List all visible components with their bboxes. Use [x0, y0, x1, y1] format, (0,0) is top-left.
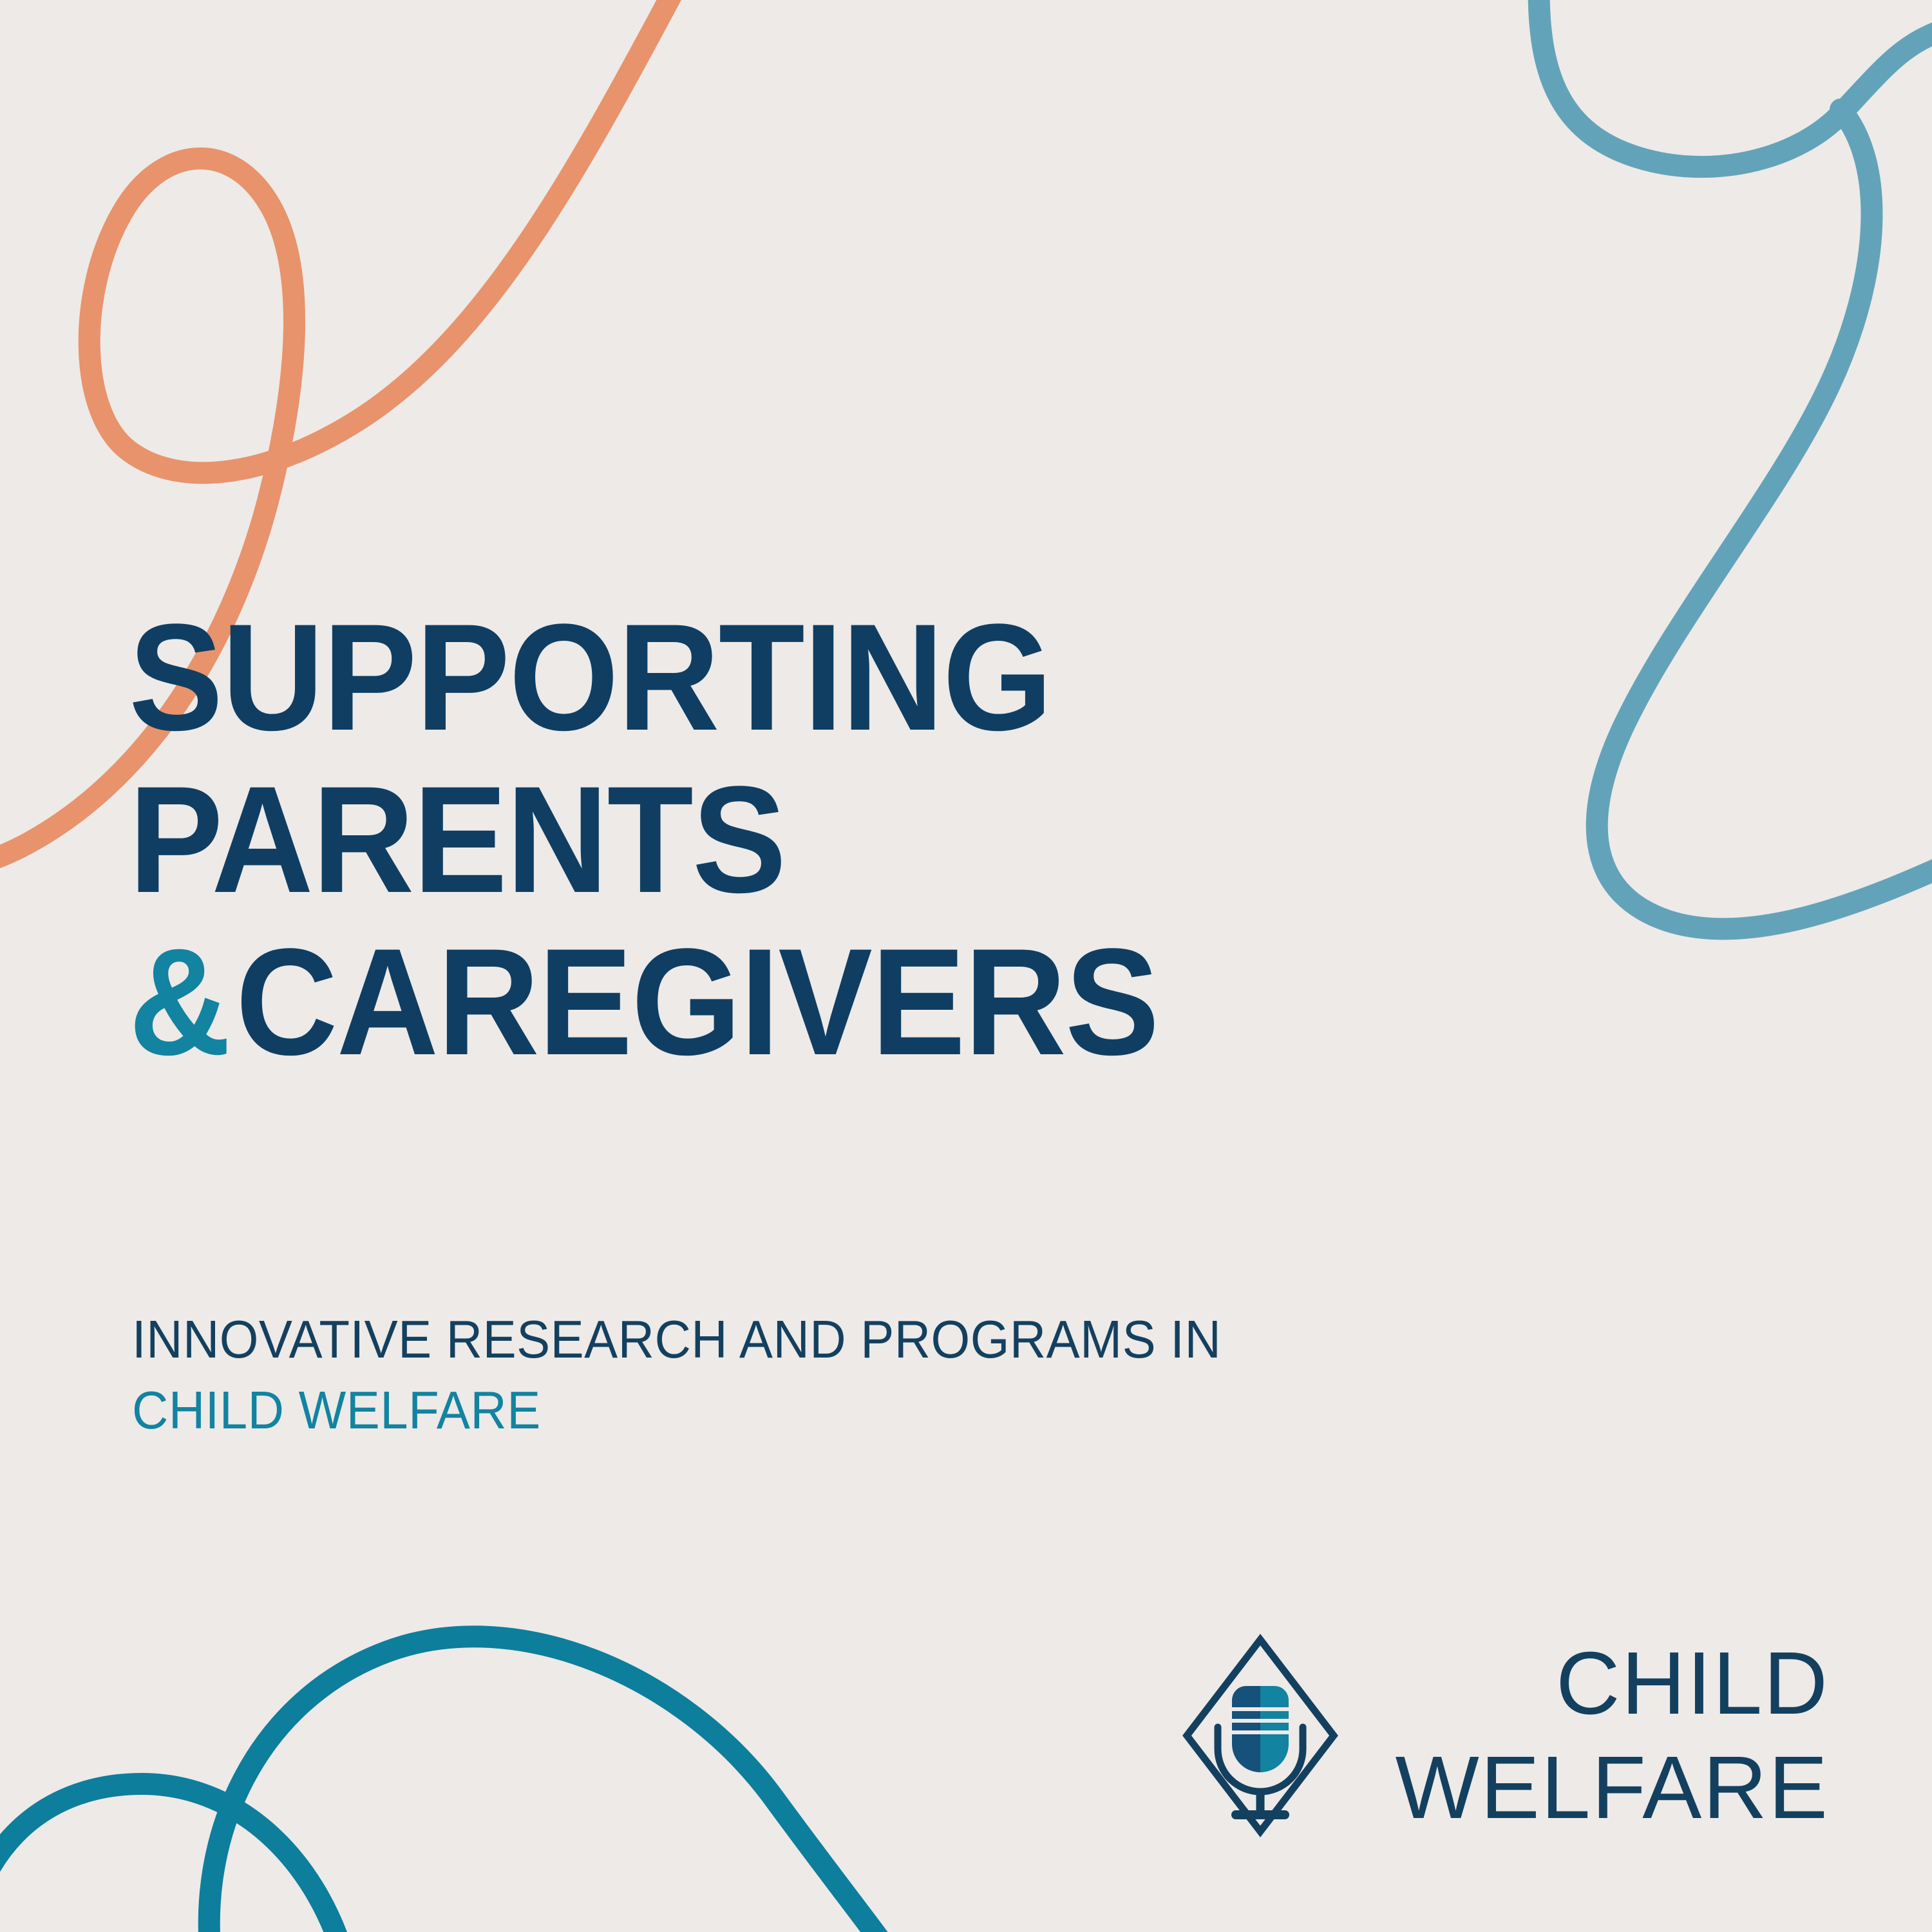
title-line-1: SUPPORTING: [129, 605, 1506, 750]
brand-logo-lockup: CHILD WELFARE: [1177, 1629, 1829, 1842]
title-block: SUPPORTING PARENTS &CAREGIVERS: [129, 605, 1610, 1075]
ampersand-accent: &: [129, 917, 236, 1087]
title-line-3-text: CAREGIVERS: [236, 917, 1159, 1087]
teal-arc-squiggle-small: [0, 1784, 348, 1932]
microphone-capsule-left: [1232, 1686, 1260, 1772]
subtitle-block: INNOVATIVE RESEARCH AND PROGRAMS IN CHIL…: [132, 1304, 1613, 1445]
logo-word-welfare: WELFARE: [1396, 1743, 1829, 1832]
subtitle-line-1: INNOVATIVE RESEARCH AND PROGRAMS IN: [132, 1304, 1524, 1375]
podcast-cover-art: SUPPORTING PARENTS &CAREGIVERS INNOVATIV…: [0, 0, 1932, 1932]
teal-arc-squiggle-large: [209, 1636, 902, 1932]
microphone-capsule-right: [1260, 1686, 1289, 1772]
title-line-2: PARENTS: [129, 768, 1506, 912]
title-line-3: &CAREGIVERS: [129, 930, 1506, 1074]
diamond-microphone-icon: [1177, 1629, 1344, 1842]
logo-word-child: CHILD: [1556, 1639, 1829, 1728]
logo-wordmark: CHILD WELFARE: [1396, 1639, 1829, 1832]
subtitle-line-2: CHILD WELFARE: [132, 1375, 1524, 1446]
blue-wave-squiggle-lower: [1597, 109, 1932, 929]
blue-wave-squiggle: [1539, 0, 1932, 167]
